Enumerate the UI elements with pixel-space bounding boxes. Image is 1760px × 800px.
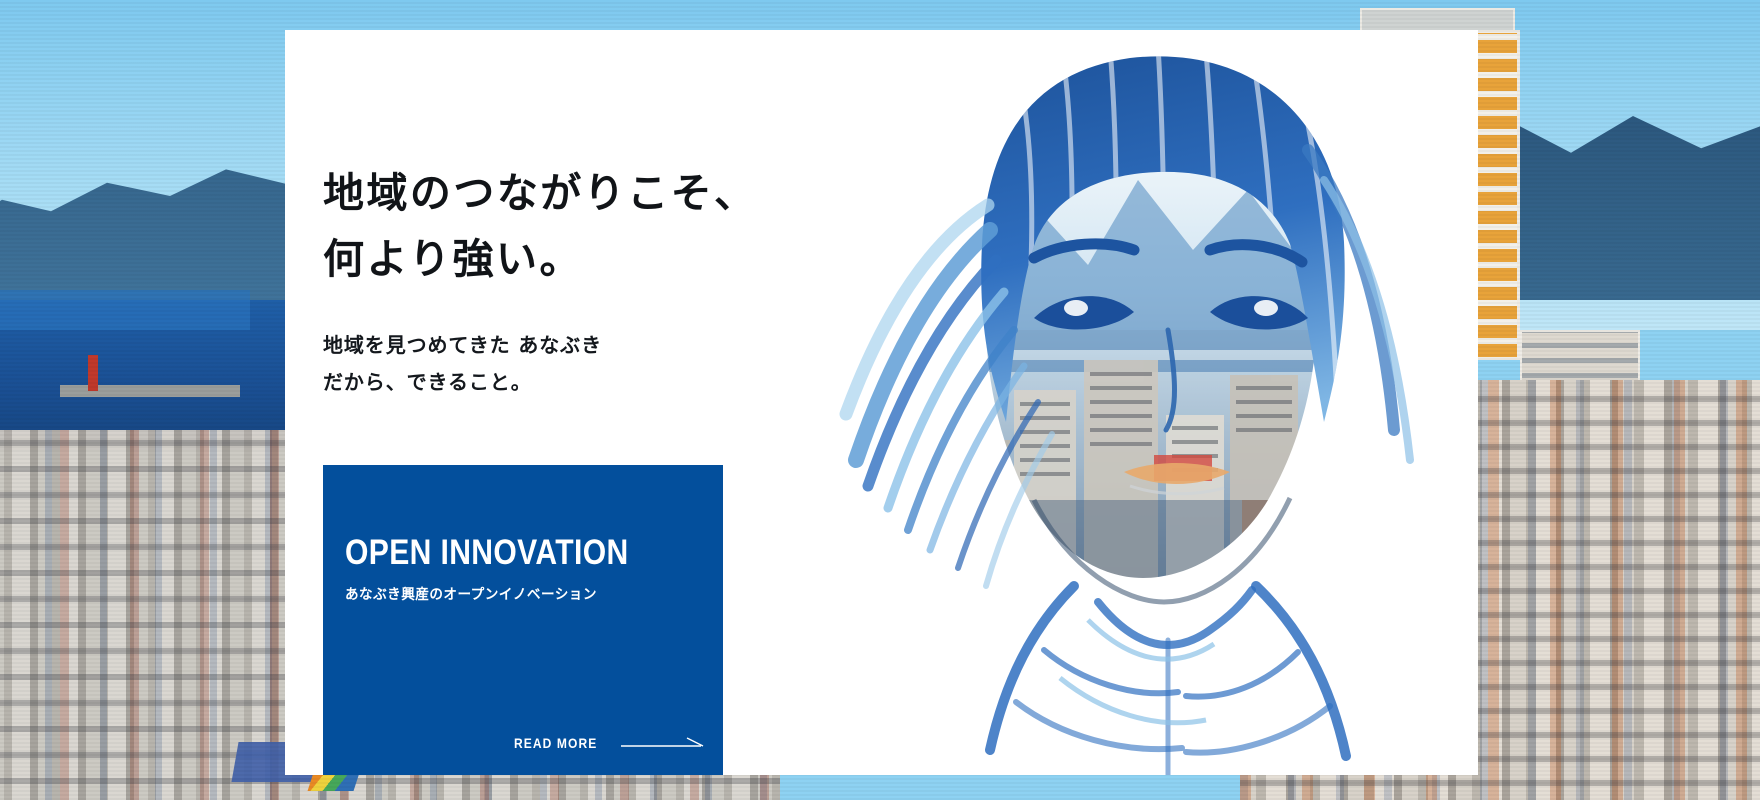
sea-highlight	[0, 290, 250, 330]
read-more-button[interactable]: READ MORE	[514, 735, 713, 751]
headline-line-2: 何より強い。	[323, 235, 583, 283]
open-innovation-cta-panel[interactable]: OPEN INNOVATION あなぶき興産のオープンイノベーション READ …	[323, 465, 723, 775]
headline-line-1: 地域のつながりこそ、	[323, 169, 758, 217]
hero-card: 地域のつながりこそ、 何より強い。 地域を見つめてきた あなぶき だから、できる…	[285, 30, 1478, 775]
subcopy-line-2: だから、できること。	[323, 370, 532, 394]
hero-stage: 地域のつながりこそ、 何より強い。 地域を見つめてきた あなぶき だから、できる…	[0, 0, 1760, 800]
portrait-illustration	[838, 30, 1478, 775]
cta-text-block: OPEN INNOVATION あなぶき興産のオープンイノベーション	[345, 535, 701, 604]
arrow-right-icon	[621, 735, 713, 751]
hero-copy: 地域のつながりこそ、 何より強い。 地域を見つめてきた あなぶき だから、できる…	[323, 160, 883, 401]
hero-subcopy: 地域を見つめてきた あなぶき だから、できること。	[323, 327, 883, 401]
read-more-label: READ MORE	[514, 735, 597, 751]
breakwater	[60, 385, 240, 397]
cta-subtitle: あなぶき興産のオープンイノベーション	[345, 584, 690, 604]
subcopy-line-1: 地域を見つめてきた あなぶき	[323, 333, 602, 357]
lighthouse	[88, 355, 98, 391]
hero-headline: 地域のつながりこそ、 何より強い。	[323, 160, 883, 293]
cta-title: OPEN INNOVATION	[345, 535, 651, 570]
